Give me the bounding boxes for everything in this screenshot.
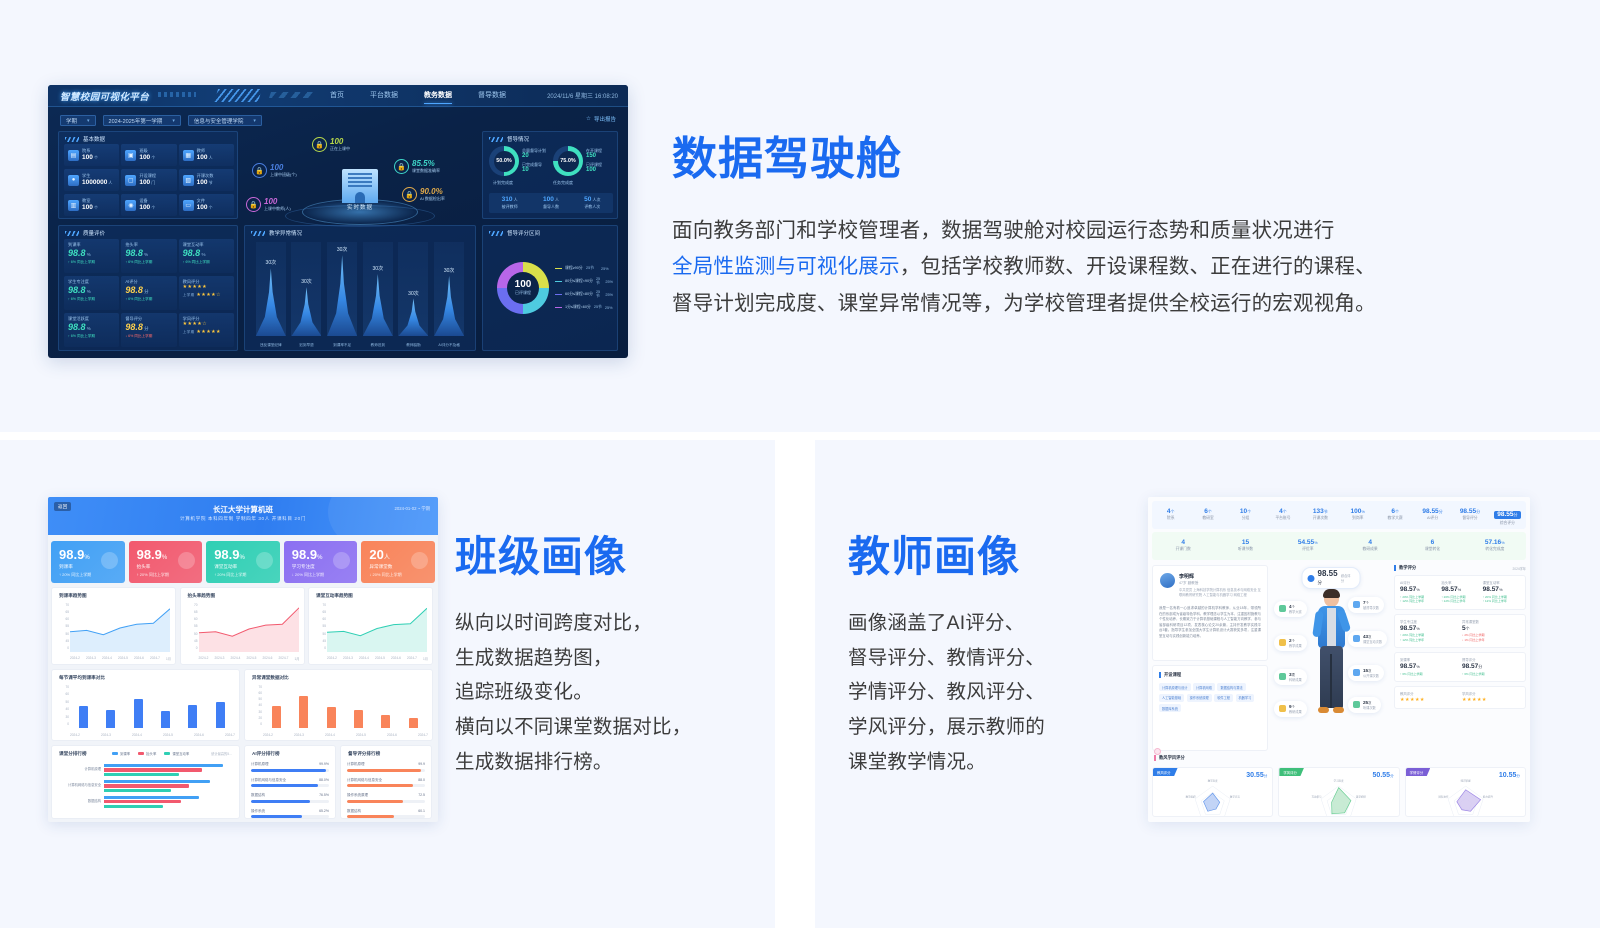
layers-icon: ▤ — [68, 150, 79, 161]
rating-delta: ↑ 6% 同比上学期 — [125, 260, 172, 265]
score-row-stars: 教风评分★★★★★学风评分★★★★★ — [1394, 686, 1526, 709]
nav-item-督导数据[interactable]: 督导数据 — [478, 90, 506, 100]
y-axis: 7065605550450 — [314, 603, 326, 650]
y-tick: 50 — [322, 632, 326, 636]
progress-fill — [347, 800, 403, 803]
panel-anomaly-title: 教学异常情况 — [251, 229, 302, 237]
chart-plot — [70, 686, 234, 728]
stat-label: 转化完成度 — [1464, 547, 1526, 552]
x-axis: 2024-22024-32024-42024-52024-62024-71月 — [327, 656, 428, 661]
description-line: 纵向以时间跨度对比， — [455, 606, 775, 641]
badge-value: 85.5% — [412, 160, 440, 169]
chart-plot — [263, 686, 427, 728]
course-chip-数据库系统[interactable]: 数据库系统 — [1159, 704, 1181, 712]
stat-unit: 个 — [93, 155, 98, 160]
cockpit-desc-part3: 督导计划完成度、课堂异常情况等，为学校管理者提供全校运行的宏观视角。 — [672, 292, 1376, 315]
teacher-center-visual: 98.55分 综合评分 4个教学大赛7个被督导次数2个教学成果43次课堂互动次数… — [1272, 565, 1390, 751]
stat-unit: 分 — [1439, 509, 1443, 514]
spike-label: 违反课堂纪律 — [256, 343, 286, 348]
chart-plot — [327, 604, 427, 652]
kpi-delta: ↑ 20% 同比上学期 — [137, 572, 203, 578]
badge-text: 85.5%课堂数据准确率 — [412, 160, 440, 174]
y-tick: 60 — [322, 617, 326, 621]
y-tick: 70 — [65, 685, 69, 689]
donut-center: 100 已评课程 — [515, 280, 532, 296]
stat-unit: 人 — [107, 180, 112, 185]
spike-value: 30次 — [373, 265, 384, 272]
export-report-button[interactable]: ☆ 导出报告 — [586, 115, 616, 123]
class-date-range: 2024-01-02 ~ 学期 — [395, 506, 430, 512]
star-rating: ★★★★★ — [1400, 697, 1458, 703]
gauge-unit-1: 75.0%在开课程150已评课程100 — [553, 146, 613, 176]
ranking-bars — [104, 796, 233, 808]
progress-value: 60.1 — [418, 809, 425, 814]
progress-item-计算机网络与信息安全: 计算机网络与信息安全88.0% — [251, 778, 329, 788]
spike-bar — [398, 298, 428, 336]
nav-item-首页[interactable]: 首页 — [330, 90, 344, 100]
rating-cell-学生专注度: 学生专注度98.8 %↑ 6% 同比上学期 — [64, 276, 119, 310]
chart-title: 抬头率趋势图 — [188, 593, 216, 599]
data-cockpit-screenshot: 智慧校园可视化平台 首页平台数据教务数据督导数据 2024/11/6 星期三 1… — [48, 85, 628, 358]
score-cell-课堂互动率: 课堂互动率98.57%↑ 20% 同比上学期↑ 12% 同比上学年 — [1483, 581, 1520, 604]
ranking-bar — [104, 796, 199, 799]
trend-chart-课堂互动率趋势图: 课堂互动率趋势图70656055504502024-22024-32024-42… — [308, 587, 433, 665]
stat-cell-学生: ●学生1000000 人 — [64, 169, 119, 191]
legend-label: 到课率 — [120, 751, 130, 756]
ranking-bar — [104, 800, 181, 803]
progress-value: 76.5% — [319, 793, 329, 798]
ranking-group-计算机网络与信息安全: 计算机网络与信息安全 — [57, 780, 233, 792]
trend-chart-抬头率趋势图: 抬头率趋势图70656055504502024-22024-32024-4202… — [180, 587, 305, 665]
ranking-bar — [104, 768, 202, 771]
courses-section-title: 开设课程 — [1159, 672, 1261, 678]
y-tick: 50 — [258, 697, 262, 701]
stat-unit: 个 — [208, 205, 213, 210]
teacher-score-rows: AI评分98.57%↑ 20% 同比上学期↑ 12% 同比上学年抬头率98.57… — [1394, 575, 1526, 709]
panel-score-distribution: 督导评分区间 100 已评课程 课程≥90分25节25%80分≤课程<90分25… — [482, 225, 618, 351]
progress-value: 88.0 — [418, 778, 425, 783]
x-axis: 2024-22024-32024-42024-52024-62024-7 — [70, 733, 235, 737]
teacher-stat-评优率: 54.55%评优率 — [1277, 539, 1339, 552]
panel-basic-data-title: 基本数据 — [65, 135, 105, 143]
stat-unit: 个 — [93, 205, 98, 210]
progress-label: 数据结构 — [347, 809, 361, 814]
y-tick: 0 — [324, 646, 326, 650]
score-caption: 综合评分 — [1341, 573, 1352, 583]
kpi-delta: ↑ 20% 同比上学期 — [59, 572, 125, 578]
course-chip-软件工程[interactable]: 软件工程 — [1214, 694, 1233, 702]
star-rating-previous: 上学期 ★★★★☆ — [183, 292, 230, 300]
x-tick: 2024-3 — [343, 656, 353, 661]
ranking-bar — [104, 789, 171, 792]
legend-label: 课堂互动率 — [172, 751, 189, 756]
ranking-bar — [104, 805, 163, 808]
stat-label: 评优率 — [1277, 547, 1339, 552]
radar-section-icon — [1154, 748, 1161, 755]
course-chip-数据结构与算法[interactable]: 数据结构与算法 — [1217, 683, 1245, 691]
course-chip-机器学习[interactable]: 机器学习 — [1236, 694, 1255, 702]
kpi-decoration-icon — [101, 552, 118, 569]
x-tick: 2024-2 — [263, 733, 273, 737]
progress-bar — [251, 815, 329, 818]
stat-label: 督导评分 — [1451, 516, 1488, 521]
bubble-unit: 个 — [1292, 605, 1295, 609]
stat-cell-开课次数: ▧开课次数100 节 — [179, 169, 234, 191]
description-line: 画像涵盖了AI评分、 — [848, 606, 1138, 641]
logo-dash-decoration — [158, 92, 196, 97]
score-unit: % — [1416, 626, 1420, 631]
description-line: 督导评分、教情评分、 — [848, 641, 1138, 676]
kpi-card-抬头率: 98.9%抬头率↑ 20% 同比上学期 — [129, 541, 203, 583]
stat-cell-文件: ▭文件100 个 — [179, 194, 234, 216]
chart-icon — [1353, 701, 1360, 708]
stat-cell-开设课程: ▢开设课程100 门 — [121, 169, 176, 191]
progress-fill — [347, 815, 394, 818]
kpi-delta: ↓ 20% 同比上学期 — [369, 572, 435, 578]
rating-delta: ↑ 6% 同比上学期 — [68, 334, 115, 339]
cockpit-text-block: 数据驾驶舱 面向教务部门和学校管理者，数据驾驶舱对校园运行态势和质量状况进行 全… — [672, 122, 1532, 322]
rating-delta: ↑ 6% 同比上学期 — [68, 260, 115, 265]
chart-title: AI评分排行榜 — [252, 751, 280, 757]
progress-value: 99.9% — [319, 762, 329, 767]
stat-label: 评教人次 — [572, 204, 613, 210]
score-value: 98.57% — [1483, 586, 1520, 594]
progress-label: 操作系统原理 — [347, 793, 368, 798]
score-delta: ↑ 6% 同比上学期 — [1462, 672, 1520, 677]
gauge-unit-0: 50.0%总量督导计划20已完成督导10 — [489, 146, 549, 176]
filter-label: 2024-2025年第一学期 — [109, 117, 163, 125]
x-tick: 1月 — [295, 656, 300, 661]
basic-data-grid: ▤院系100 个▣班级100 个▦教师100 人●学生1000000 人▢开设课… — [64, 144, 234, 216]
rating-cell-到课率: 到课率98.8 %↑ 6% 同比上学期 — [64, 239, 119, 273]
lock-icon: 🔒 — [246, 197, 261, 212]
progress-bar — [347, 784, 425, 787]
badge-value: 100 — [264, 198, 291, 207]
legend-swatch — [112, 752, 118, 755]
score-cell-AI评分: AI评分98.57%↑ 20% 同比上学期↑ 12% 同比上学年 — [1400, 581, 1437, 604]
bubble-unit: 次 — [1368, 701, 1371, 705]
cockpit-desc-part2: ，包括学校教师数、开设课程数、正在进行的课程、 — [900, 255, 1376, 278]
teacher-stat-教研成果: 4教研成果 — [1339, 539, 1401, 552]
radar-tag: 学风评分 — [1279, 768, 1304, 776]
y-tick: 55 — [194, 624, 198, 628]
course-chip-计算机网络[interactable]: 计算机网络 — [1193, 683, 1215, 691]
x-tick: 2024-7 — [150, 656, 160, 661]
ranking-rows: 计算机原理计算机网络与信息安全数据结构 — [57, 764, 233, 814]
y-tick: 70 — [194, 603, 198, 607]
book-icon: ▢ — [125, 175, 136, 186]
ranking-bar — [104, 784, 189, 787]
stat-text: 开课次数100 节 — [197, 173, 214, 186]
teacher-scores-panel: 教学评分 2024学年 AI评分98.57%↑ 20% 同比上学期↑ 12% 同… — [1394, 565, 1526, 713]
stat-unit: 人 — [208, 155, 213, 160]
teacher-stat-分组: 10个分组 — [1227, 508, 1264, 521]
bar — [161, 711, 170, 728]
bubble-label: 课堂互动次数 — [1363, 640, 1382, 644]
y-axis: 7065605550450 — [57, 603, 69, 650]
filter-select-1[interactable]: 2024-2025年第一学期▾ — [103, 115, 181, 126]
score-value: 98.57% — [1441, 586, 1478, 594]
stat-label: 分组 — [1227, 516, 1264, 521]
donut-center-value: 100 — [515, 280, 532, 290]
supervision-stat-评教人次: 50 人次评教人次 — [572, 196, 613, 209]
course-chip-计算机原理与设计[interactable]: 计算机原理与设计 — [1159, 683, 1191, 691]
teacher-description: 我是一名有着一心追求卓越的计算机学科教师，从业18年，带领所在的系部成为省级特色… — [1159, 606, 1261, 640]
class-portrait-title: 班级画像 — [455, 523, 775, 584]
progress-value: 88.0% — [319, 778, 329, 783]
stat-unit: 人次 — [591, 197, 600, 202]
gauge-metric: 已评课程100 — [586, 163, 602, 174]
score-row-2: 到课率98.57%↑ 6% 同比上学期督导评分98.57分↑ 6% 同比上学期 — [1394, 652, 1526, 682]
spike-label: 到课率不足 — [327, 343, 357, 348]
cockpit-header: 智慧校园可视化平台 首页平台数据教务数据督导数据 2024/11/6 星期三 1… — [48, 85, 628, 107]
stat-text: 设备100 个 — [139, 198, 155, 211]
x-tick: 1月 — [423, 656, 428, 661]
bubble-text: 4个教学大赛 — [1289, 604, 1302, 614]
spike-bar — [363, 274, 393, 336]
y-tick: 65 — [65, 610, 69, 614]
y-tick: 20 — [258, 716, 262, 720]
panel-title-text: 基本数据 — [83, 135, 105, 143]
spike-column-迟到早退: 30次 — [291, 242, 321, 336]
spike-label: 教师缺勤 — [398, 343, 428, 348]
y-tick: 70 — [258, 685, 262, 689]
course-chip-人工智能基础[interactable]: 人工智能基础 — [1159, 694, 1184, 702]
teacher-portrait-title: 教师画像 — [848, 523, 1138, 584]
building-icon — [342, 169, 378, 203]
filter-select-0[interactable]: 学期▾ — [60, 115, 96, 126]
description-line: 学风评分，展示教师的 — [848, 710, 1138, 745]
legend-count: 25节 — [596, 290, 602, 299]
progress-list-AI评分排行榜: AI评分排行榜计算机原理99.9%计算机网络与信息安全88.0%数据结构76.5… — [244, 745, 336, 819]
metric-bubble-公开课次数: 15次公开课次数 — [1348, 665, 1384, 681]
kpi-delta: ↑ 20% 同比上学期 — [214, 572, 280, 578]
y-tick: 0 — [196, 646, 198, 650]
chart-icon — [1353, 635, 1360, 642]
y-tick: 70 — [65, 603, 69, 607]
svg-text:互动参与: 互动参与 — [1312, 794, 1323, 798]
metric-bubble-课堂互动次数: 43次课堂互动次数 — [1348, 631, 1387, 647]
spike-column-AI评分不及格: 30次 — [434, 242, 464, 336]
progress-label: 数据结构 — [251, 793, 265, 798]
progress-fill — [251, 769, 326, 772]
cockpit-desc-part1: 面向教务部门和学校管理者，数据驾驶舱对校园运行态势和质量状况进行 — [672, 219, 1334, 242]
teacher-stat-平台账号: 4个平台账号 — [1264, 508, 1301, 521]
radar-tag: 教风评分 — [1153, 768, 1178, 776]
spike-label: 教师迟到 — [363, 343, 393, 348]
hologram-visualization: 实时数据 🔒100上课中班级(个)🔒100正在上课中🔒100上课中教师(人)🔒8… — [244, 125, 476, 225]
progress-header: 操作系统65.2% — [251, 809, 329, 814]
teacher-radar-charts: 教学态度教学方法教学内容教学效果教学组织教风评分30.55分学习态度课堂纪律作业… — [1152, 767, 1526, 817]
metric-value: 150 — [586, 153, 602, 160]
class-subtitle: 计算机学院 本科四年制 学制四年 30人 开课科目 20门 — [48, 516, 438, 522]
radar-section-title: 教风学风评分 — [1154, 755, 1185, 761]
stat-label: 课堂转化 — [1401, 547, 1463, 552]
stat-unit: 个 — [150, 205, 155, 210]
score-unit: % — [1416, 587, 1420, 592]
illustration-hair — [1323, 589, 1340, 598]
progress-value: 65.2% — [319, 809, 329, 814]
legend-count: 25节 — [594, 305, 602, 310]
y-tick: 40 — [258, 703, 262, 707]
teacher-portrait-description: 画像涵盖了AI评分、督导评分、教情评分、学情评分、教风评分、学风评分，展示教师的… — [848, 606, 1138, 780]
ranking-bars — [104, 764, 233, 776]
trophy-icon — [1279, 705, 1286, 712]
progress-value: 99.9 — [418, 762, 425, 767]
radar-card-教风评分: 教学态度教学方法教学内容教学效果教学组织教风评分30.55分 — [1152, 767, 1273, 817]
bubble-label: 公开课次数 — [1363, 674, 1379, 678]
file-icon: ▭ — [183, 200, 194, 211]
rating-unit: 分 — [143, 289, 149, 294]
stat-unit: 人 — [513, 197, 518, 202]
score-unit: 分 — [1318, 580, 1323, 585]
x-tick: 2024-4 — [231, 656, 241, 661]
camera-icon: ▥ — [68, 200, 79, 211]
badge-value: 100 — [270, 164, 297, 173]
bars-row — [263, 686, 427, 728]
cockpit-filter-bar[interactable]: 学期▾2024-2025年第一学期▾信息与安全管理学院▾ — [60, 115, 262, 126]
score-cell-学生专注度: 学生专注度98.57%↑ 20% 同比上学期↑ 12% 同比上学年 — [1400, 620, 1458, 643]
rating-unit: % — [86, 289, 91, 294]
score-value: 98.55分 — [1318, 570, 1338, 586]
progress-fill — [347, 769, 421, 772]
stat-unit: 个 — [1283, 509, 1287, 514]
spike-column-违反课堂纪律: 30次 — [256, 242, 286, 336]
panel-title-text: 质量评价 — [83, 229, 105, 237]
cockpit-nav[interactable]: 首页平台数据教务数据督导数据 — [330, 90, 506, 100]
hologram-badge-0: 🔒100上课中班级(个) — [252, 163, 297, 178]
stat-label: 督导人数 — [530, 204, 571, 210]
stat-unit: 个 — [1171, 509, 1175, 514]
x-tick: 2024-4 — [359, 656, 369, 661]
hologram-badge-2: 🔒100上课中教师(人) — [246, 197, 291, 212]
title-bars-icon — [65, 231, 79, 236]
slash-decoration-primary — [214, 89, 262, 102]
hologram-badge-4: 🔒90.0%AI 数据检出率 — [402, 187, 445, 202]
legend-percent: 25% — [605, 280, 613, 284]
supervision-stat-被评教师: 310 人被评教师 — [489, 196, 530, 209]
progress-items: 计算机原理99.9%计算机网络与信息安全88.0%数据结构76.5%操作系统65… — [251, 762, 329, 822]
donut-gauge: 75.0% — [553, 146, 583, 176]
x-tick: 2024-7 — [407, 656, 417, 661]
kpi-unit: 人 — [384, 555, 390, 561]
chart-title: 异常课堂数据对比 — [252, 675, 289, 681]
svg-text:能力提升: 能力提升 — [1482, 794, 1493, 798]
progress-item-操作系统: 操作系统65.2% — [251, 809, 329, 819]
x-tick: 2024-6 — [134, 656, 144, 661]
teacher-meta: 47岁 副教授 — [1179, 581, 1198, 586]
bubble-text: 25次听课次数 — [1363, 700, 1376, 710]
score-delta: ↑ 12% 同比上学年 — [1441, 599, 1478, 604]
ranking-legend: 到课率抬头率课堂互动率统计最高的5... — [112, 751, 232, 756]
ranking-bar — [104, 780, 210, 783]
legend-label: 课程≥90分 — [565, 266, 583, 271]
score-delta: ↓ 1% 同比上学年 — [1462, 638, 1520, 643]
radar-unit: 分 — [1516, 774, 1520, 778]
score-delta: ↑ 12% 同比上学年 — [1400, 638, 1458, 643]
legend-label: 1分≤课程<60分 — [565, 305, 591, 310]
ranking-group-计算机原理: 计算机原理 — [57, 764, 233, 776]
progress-bar — [347, 800, 425, 803]
chart-title: 到课率趋势图 — [59, 593, 87, 599]
kpi-unit: % — [240, 555, 245, 561]
y-tick: 65 — [194, 610, 198, 614]
y-axis: 70605040300 — [57, 685, 69, 726]
stat-text: 学生1000000 人 — [82, 173, 112, 186]
stat-value: 50 人次 — [572, 196, 613, 204]
progress-item-数据结构: 数据结构60.1 — [347, 809, 425, 819]
x-axis: 2024-22024-32024-42024-52024-62024-71月 — [70, 656, 171, 661]
stat-unit: 门 — [150, 180, 155, 185]
metric-bubble-教研成果: 9个教研成果 — [1274, 701, 1307, 717]
y-tick: 30 — [65, 715, 69, 719]
spike-bar — [291, 287, 321, 336]
score-dot-icon — [1308, 575, 1315, 582]
badge-text: 100正在上课中 — [330, 138, 350, 152]
score-value: 98.57% — [1400, 586, 1437, 594]
x-tick: 2024-6 — [263, 656, 273, 661]
nav-item-教务数据[interactable]: 教务数据 — [424, 90, 452, 100]
badge-label: AI 数据检出率 — [420, 196, 445, 201]
progress-label: 计算机网络与信息安全 — [251, 778, 286, 783]
trophy-icon — [1279, 639, 1286, 646]
y-tick: 40 — [65, 707, 69, 711]
y-tick: 0 — [67, 646, 69, 650]
radar-score: 30.55分 — [1246, 772, 1267, 779]
spike-column-到课率不足: 30次 — [327, 242, 357, 336]
badge-value: 100 — [330, 138, 350, 147]
progress-bar — [251, 800, 329, 803]
hologram-badge-1: 🔒100正在上课中 — [312, 137, 350, 152]
chart-icon — [1353, 669, 1360, 676]
donut-gauge: 50.0% — [489, 146, 519, 176]
star-cell-教风评分: 教风评分★★★★★ — [1400, 692, 1458, 703]
svg-text:教学组织: 教学组织 — [1185, 794, 1196, 798]
rating-unit: % — [86, 326, 91, 331]
legend-swatch — [138, 752, 144, 755]
rating-delta: ↑ 6% 同比上学期 — [68, 297, 115, 302]
ranking-bar — [104, 764, 223, 767]
badge-text: 100上课中教师(人) — [264, 198, 291, 212]
badge-label: 上课中教师(人) — [264, 206, 291, 211]
bubble-label: 教学大赛 — [1289, 610, 1302, 614]
chart-icon — [1279, 673, 1286, 680]
ranking-bar — [104, 773, 179, 776]
kpi-card-到课率: 98.9%到课率↑ 20% 同比上学期 — [51, 541, 125, 583]
gauge-metrics: 总量督导计划20已完成督导10 — [522, 149, 546, 174]
nav-item-平台数据[interactable]: 平台数据 — [370, 90, 398, 100]
spike-bar — [327, 255, 357, 336]
stat-label: 开课次数 — [1302, 516, 1339, 521]
radar-card-学风评分: 学习态度课堂纪律作业完成出勤情况互动参与学风评分50.55分 — [1278, 767, 1399, 817]
x-tick: 2024-5 — [375, 656, 385, 661]
bubble-unit: 项 — [1292, 673, 1295, 677]
legend-swatch — [555, 281, 562, 283]
stat-value: 310 人 — [489, 196, 530, 204]
course-chip-操作系统原理[interactable]: 操作系统原理 — [1187, 694, 1212, 702]
progress-item-数据结构: 数据结构76.5% — [251, 793, 329, 803]
bubble-text: 2个教学成果 — [1289, 638, 1302, 648]
x-tick: 2024-7 — [418, 733, 428, 737]
radar-plot: 教学态度教学方法教学内容教学效果教学组织 — [1153, 776, 1272, 817]
stat-label: 院系 — [1152, 516, 1189, 521]
ranking-label: 计算机网络与信息安全 — [57, 784, 101, 788]
progress-label: 计算机原理 — [251, 762, 269, 767]
chart-icon — [1279, 605, 1286, 612]
donut-center-label: 已评课程 — [515, 290, 532, 296]
progress-header: 计算机网络与信息安全88.0 — [347, 778, 425, 783]
bubble-label: 教学成果 — [1289, 644, 1302, 648]
